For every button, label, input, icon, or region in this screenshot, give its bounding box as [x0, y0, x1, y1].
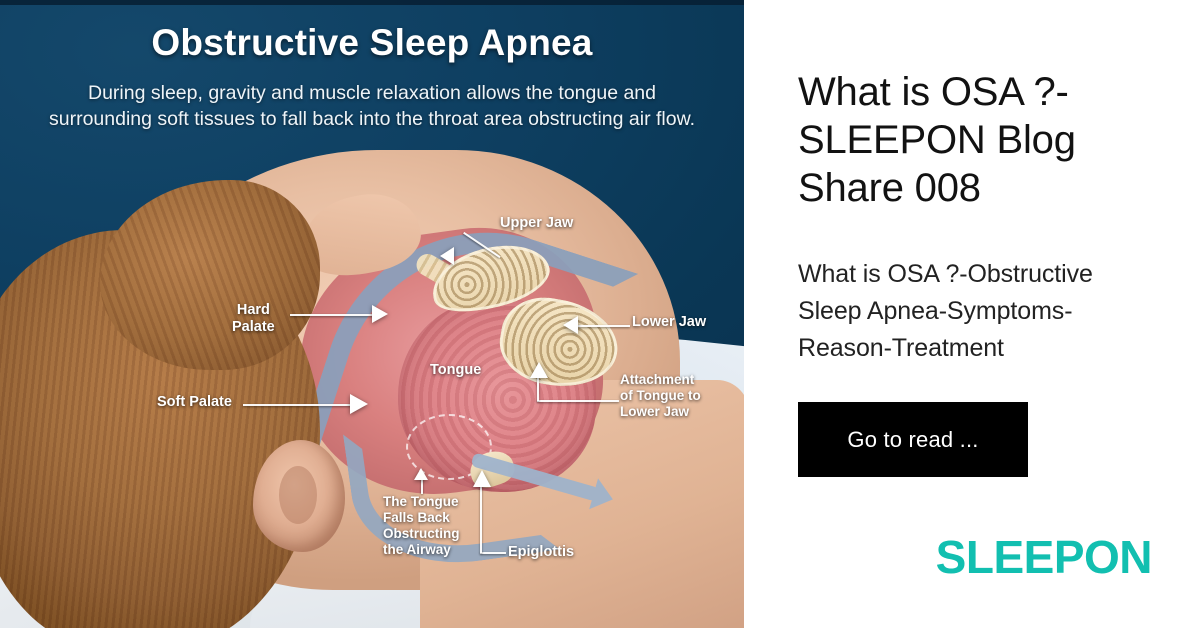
page-title: What is OSA ?-SLEEPON Blog Share 008	[798, 68, 1158, 212]
page-description: What is OSA ?-Obstructive Sleep Apnea-Sy…	[798, 256, 1160, 367]
illustration-subheading: During sleep, gravity and muscle relaxat…	[40, 80, 704, 132]
leader-line-hard-palate	[290, 314, 375, 316]
illustration-heading: Obstructive Sleep Apnea	[0, 22, 744, 64]
leader-line-attachment-vert	[537, 377, 539, 401]
label-tongue-attachment: Attachment of Tongue to Lower Jaw	[620, 372, 701, 420]
link-preview-card: Obstructive Sleep Apnea During sleep, gr…	[0, 0, 1200, 628]
arrowhead-attachment	[530, 362, 548, 378]
arrowhead-epiglottis	[473, 470, 491, 487]
label-tongue: Tongue	[430, 362, 481, 379]
label-upper-jaw: Upper Jaw	[500, 215, 573, 232]
label-hard-palate: Hard Palate	[232, 302, 275, 336]
arrowhead-falls-back	[414, 468, 428, 480]
preview-text-panel: What is OSA ?-SLEEPON Blog Share 008 Wha…	[744, 0, 1200, 628]
leader-line-falls-back	[421, 478, 423, 494]
go-to-read-button[interactable]: Go to read ...	[798, 402, 1028, 477]
label-lower-jaw: Lower Jaw	[632, 314, 706, 331]
leader-line-lower-jaw	[578, 325, 630, 327]
arrowhead-upper-jaw	[440, 247, 454, 265]
label-tongue-falls-back: The Tongue Falls Back Obstructing the Ai…	[383, 494, 460, 558]
arrowhead-soft-palate	[350, 394, 368, 414]
arrowhead-hard-palate	[372, 305, 388, 323]
sleepon-logo: SLEEPON	[936, 534, 1152, 580]
label-soft-palate: Soft Palate	[157, 394, 232, 411]
leader-line-attachment	[537, 400, 619, 402]
top-edge-strip	[0, 0, 744, 5]
arrowhead-lower-jaw	[563, 316, 578, 334]
leader-line-epiglottis	[480, 552, 506, 554]
label-epiglottis: Epiglottis	[508, 544, 574, 561]
leader-line-epiglottis-vert	[480, 486, 482, 553]
sleep-apnea-illustration: Obstructive Sleep Apnea During sleep, gr…	[0, 0, 744, 628]
leader-line-soft-palate	[243, 404, 353, 406]
